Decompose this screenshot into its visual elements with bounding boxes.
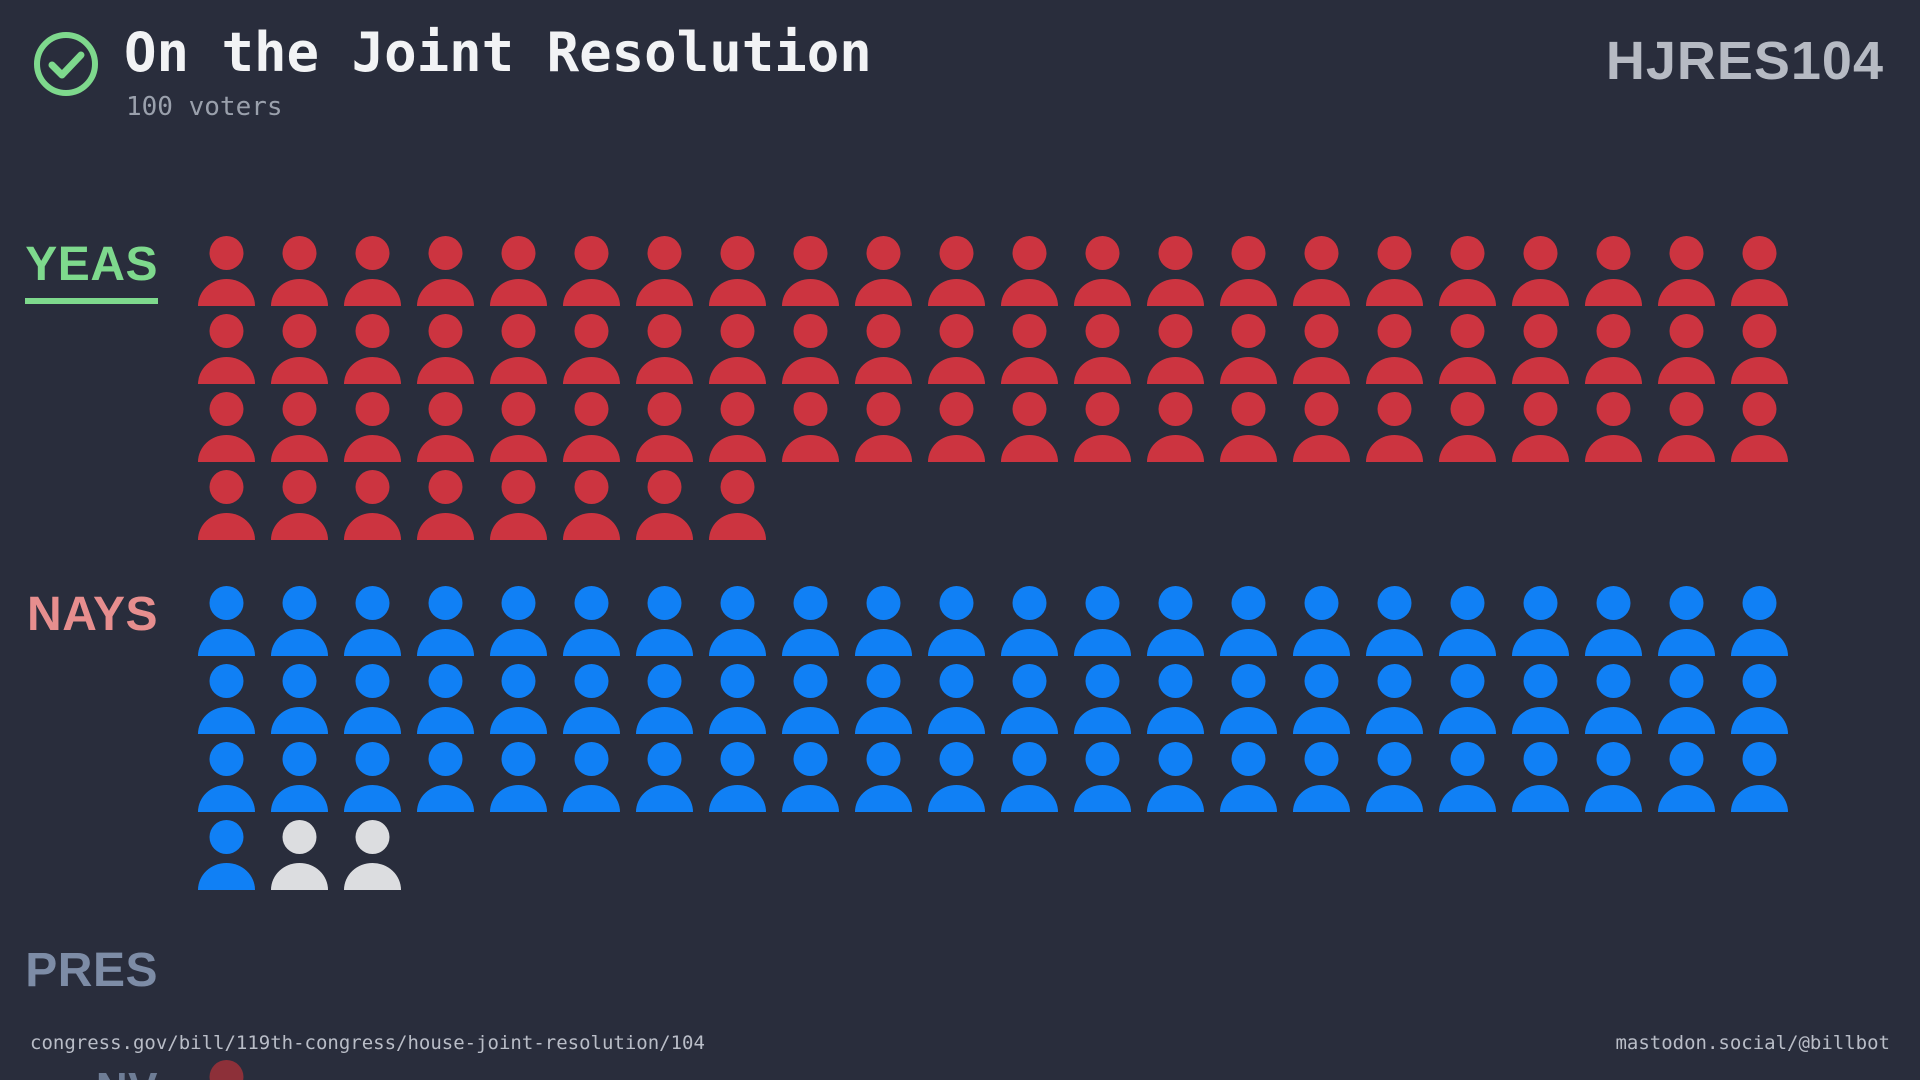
vote-icon-yeas <box>1358 232 1431 310</box>
vote-icon-yeas <box>1577 310 1650 388</box>
vote-icon-yeas <box>1431 310 1504 388</box>
vote-group-pres: PRES <box>0 938 1920 1034</box>
vote-icon-yeas <box>555 466 628 544</box>
bill-id: HJRES104 <box>1606 30 1884 92</box>
vote-icon-nays <box>920 738 993 816</box>
vote-icon-nays <box>1212 582 1285 660</box>
vote-icon-nays <box>701 582 774 660</box>
vote-icon-yeas <box>1504 232 1577 310</box>
vote-icon-yeas <box>701 310 774 388</box>
vote-icon-nays <box>336 660 409 738</box>
vote-icon-yeas <box>336 232 409 310</box>
vote-icon-nays <box>409 660 482 738</box>
vote-icon-nays <box>1577 738 1650 816</box>
vote-icon-yeas <box>1066 388 1139 466</box>
header-left: On the Joint Resolution 100 voters <box>30 22 872 124</box>
vote-icon-nays <box>847 582 920 660</box>
source-url[interactable]: congress.gov/bill/119th-congress/house-j… <box>30 1030 705 1056</box>
vote-icon-nays <box>701 738 774 816</box>
vote-icon-yeas <box>263 388 336 466</box>
vote-icon-yeas <box>1212 388 1285 466</box>
vote-icon-nays <box>1139 660 1212 738</box>
vote-group-nays: NAYS <box>0 582 1920 894</box>
vote-icon-yeas <box>1212 310 1285 388</box>
vote-icon-nays <box>555 660 628 738</box>
vote-icon-yeas <box>701 388 774 466</box>
vote-icon-yeas <box>482 232 555 310</box>
vote-icon-nays <box>1650 738 1723 816</box>
vote-icon-yeas <box>774 388 847 466</box>
vote-icon-yeas <box>555 388 628 466</box>
group-label-col-nv: NV <box>0 1056 190 1080</box>
vote-icon-yeas <box>1577 388 1650 466</box>
vote-icon-yeas <box>409 310 482 388</box>
vote-icon-yeas <box>993 388 1066 466</box>
vote-icon-yeas <box>482 310 555 388</box>
vote-icon-nays <box>482 582 555 660</box>
vote-icon-nays <box>1066 582 1139 660</box>
vote-icon-yeas <box>1066 232 1139 310</box>
vote-icon-yeas <box>1139 388 1212 466</box>
vote-icon-nays <box>1139 582 1212 660</box>
vote-icon-yeas <box>190 466 263 544</box>
vote-icon-nays <box>1358 582 1431 660</box>
vote-icon-nays <box>847 738 920 816</box>
vote-icon-nays <box>409 582 482 660</box>
vote-icon-yeas <box>555 232 628 310</box>
card-header: On the Joint Resolution 100 voters HJRES… <box>30 22 1884 142</box>
vote-icon-nays <box>1577 660 1650 738</box>
vote-icon-nays <box>190 816 263 894</box>
title-block: On the Joint Resolution 100 voters <box>124 22 872 124</box>
vote-icon-nays <box>1723 660 1796 738</box>
vote-icon-nays <box>1577 582 1650 660</box>
vote-icon-nays <box>1212 738 1285 816</box>
group-label-col-pres: PRES <box>0 938 190 998</box>
vote-icon-nays <box>993 582 1066 660</box>
vote-icon-yeas <box>1504 388 1577 466</box>
vote-icon-yeas <box>774 232 847 310</box>
vote-icon-nays <box>1285 660 1358 738</box>
vote-icon-yeas <box>628 466 701 544</box>
vote-icon-yeas <box>190 388 263 466</box>
vote-icon-nays <box>920 582 993 660</box>
vote-icon-nays <box>993 660 1066 738</box>
vote-icon-nays <box>1723 738 1796 816</box>
voter-count: 100 voters <box>124 90 872 124</box>
vote-icon-nays <box>190 582 263 660</box>
vote-icon-nays <box>409 738 482 816</box>
group-label-nv[interactable]: NV <box>96 1062 158 1080</box>
vote-icon-nays <box>336 582 409 660</box>
vote-icon-nays <box>1139 738 1212 816</box>
vote-icon-nays <box>263 660 336 738</box>
vote-icon-yeas <box>482 466 555 544</box>
vote-group-nv: NV <box>0 1056 1920 1080</box>
vote-icon-nays <box>1212 660 1285 738</box>
vote-icon-yeas <box>1212 232 1285 310</box>
vote-icon-nays <box>1358 738 1431 816</box>
vote-icon-nays <box>336 738 409 816</box>
vote-icon-nays <box>1431 738 1504 816</box>
vote-icon-yeas <box>993 232 1066 310</box>
vote-icon-nays <box>920 660 993 738</box>
vote-icon-nays <box>993 738 1066 816</box>
vote-icon-yeas <box>409 388 482 466</box>
group-label-col-nays: NAYS <box>0 582 190 642</box>
vote-icon-nays <box>1358 660 1431 738</box>
vote-icon-absent <box>263 816 336 894</box>
page-title: On the Joint Resolution <box>124 22 872 84</box>
vote-icon-yeas <box>482 388 555 466</box>
vote-icon-yeas <box>190 310 263 388</box>
vote-icon-nays <box>555 738 628 816</box>
group-label-nays[interactable]: NAYS <box>27 588 158 642</box>
icon-grid-pres <box>190 938 1830 1016</box>
vote-icon-yeas <box>1577 232 1650 310</box>
vote-icon-yeas <box>1066 310 1139 388</box>
vote-icon-nays <box>190 738 263 816</box>
vote-icon-yeas <box>1723 232 1796 310</box>
vote-group-yeas: YEAS <box>0 232 1920 544</box>
icon-grid-nv <box>190 1056 1830 1080</box>
vote-icon-yeas <box>409 232 482 310</box>
vote-icon-yeas <box>1285 232 1358 310</box>
vote-icon-nays <box>482 738 555 816</box>
vote-icon-yeas <box>263 310 336 388</box>
card-footer: congress.gov/bill/119th-congress/house-j… <box>30 1030 1890 1056</box>
vote-icon-yeas <box>920 232 993 310</box>
vote-icon-yeas <box>1723 388 1796 466</box>
vote-icon-nays <box>1431 660 1504 738</box>
vote-icon-nays <box>628 660 701 738</box>
group-label-col-yeas: YEAS <box>0 232 190 304</box>
vote-icon-nays <box>1066 660 1139 738</box>
vote-icon-yeas <box>1650 388 1723 466</box>
group-label-yeas[interactable]: YEAS <box>25 238 158 304</box>
vote-icon-nays <box>482 660 555 738</box>
vote-card: On the Joint Resolution 100 voters HJRES… <box>0 0 1920 1080</box>
vote-icon-yeas <box>847 232 920 310</box>
vote-icon-yeas <box>847 388 920 466</box>
vote-icon-yeas <box>555 310 628 388</box>
vote-icon-yeas <box>1504 310 1577 388</box>
vote-icon-nays <box>1504 582 1577 660</box>
vote-icon-yeas <box>628 232 701 310</box>
vote-icon-yeas <box>409 466 482 544</box>
vote-icon-nays <box>1504 738 1577 816</box>
account-url[interactable]: mastodon.social/@billbot <box>1615 1030 1890 1056</box>
vote-icon-nays <box>1066 738 1139 816</box>
vote-icon-nays <box>1285 738 1358 816</box>
vote-icon-yeas <box>774 310 847 388</box>
vote-icon-nays <box>1504 660 1577 738</box>
vote-icon-nays <box>263 738 336 816</box>
icon-grid-nays <box>190 582 1830 894</box>
vote-icon-yeas <box>1723 310 1796 388</box>
vote-groups: YEASNAYSPRESNV <box>0 232 1920 1080</box>
vote-icon-yeas <box>1139 310 1212 388</box>
group-label-pres[interactable]: PRES <box>25 944 158 998</box>
vote-icon-yeas <box>1650 232 1723 310</box>
vote-icon-yeas <box>920 388 993 466</box>
vote-icon-yeas <box>628 310 701 388</box>
vote-icon-yeas <box>263 232 336 310</box>
vote-icon-nays <box>774 660 847 738</box>
vote-icon-yeas <box>336 310 409 388</box>
vote-icon-nays <box>190 660 263 738</box>
vote-icon-yeas <box>336 388 409 466</box>
vote-icon-yeas <box>1650 310 1723 388</box>
vote-icon-nays <box>1650 660 1723 738</box>
vote-icon-yeas <box>993 310 1066 388</box>
vote-icon-yeas <box>701 232 774 310</box>
vote-icon-nays <box>263 582 336 660</box>
vote-icon-nays <box>774 738 847 816</box>
vote-icon-yeas <box>701 466 774 544</box>
vote-icon-nays <box>1723 582 1796 660</box>
vote-icon-yeas <box>1139 232 1212 310</box>
vote-icon-yeas <box>336 466 409 544</box>
vote-icon-nays <box>628 582 701 660</box>
vote-icon-nays <box>774 582 847 660</box>
vote-icon-yeas <box>920 310 993 388</box>
vote-icon-yeas <box>190 232 263 310</box>
vote-icon-yeas <box>1431 388 1504 466</box>
icon-grid-yeas <box>190 232 1830 544</box>
vote-icon-nays <box>1431 582 1504 660</box>
vote-icon-yeas <box>1285 310 1358 388</box>
vote-icon-nays <box>847 660 920 738</box>
circle-check-icon <box>30 28 102 100</box>
vote-icon-yeas <box>847 310 920 388</box>
vote-icon-yeas <box>1285 388 1358 466</box>
vote-icon-yeas <box>1431 232 1504 310</box>
vote-icon-absent <box>336 816 409 894</box>
vote-icon-nv <box>190 1056 263 1080</box>
vote-icon-yeas <box>1358 388 1431 466</box>
vote-icon-nays <box>1285 582 1358 660</box>
vote-icon-yeas <box>628 388 701 466</box>
vote-icon-nays <box>628 738 701 816</box>
vote-icon-nays <box>701 660 774 738</box>
vote-icon-nays <box>1650 582 1723 660</box>
vote-icon-yeas <box>1358 310 1431 388</box>
vote-icon-nays <box>555 582 628 660</box>
vote-icon-yeas <box>263 466 336 544</box>
